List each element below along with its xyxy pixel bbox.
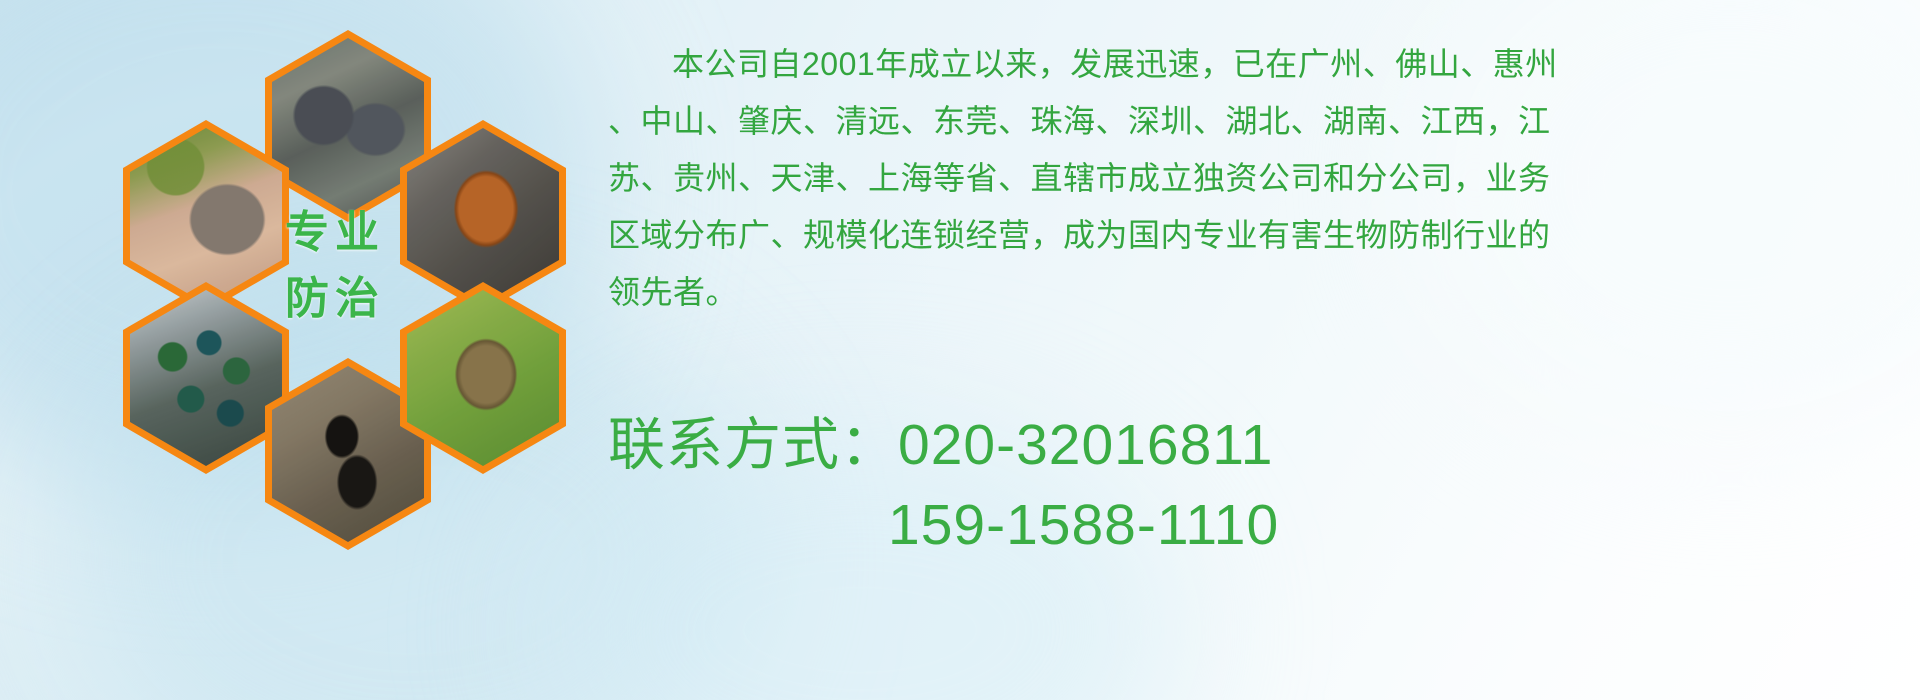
description-line-2: 、中山、肇庆、清远、东莞、珠海、深圳、湖北、湖南、江西，江	[608, 93, 1878, 150]
company-description: 本公司自2001年成立以来，发展迅速，已在广州、佛山、惠州 、中山、肇庆、清远、…	[608, 36, 1878, 321]
contact-phone-secondary[interactable]: 159-1588-1110	[608, 485, 1878, 565]
promo-banner: 专业 防治 本公司自2001年成立以来，发展迅速，已在广州、佛山、惠州 、中山、…	[0, 0, 1920, 700]
slogan-line-2: 防治	[255, 266, 415, 332]
cockroach-image	[407, 128, 559, 304]
description-line-3: 苏、贵州、天津、上海等省、直辖市成立独资公司和分公司，业务	[608, 150, 1878, 207]
cockroach-photo	[407, 128, 559, 304]
description-line-5: 领先者。	[608, 264, 1878, 321]
contact-phone-primary[interactable]: 联系方式：020-32016811	[608, 405, 1878, 485]
description-line-1: 本公司自2001年成立以来，发展迅速，已在广州、佛山、惠州	[608, 36, 1878, 93]
stink-bug-image	[407, 290, 559, 466]
stink-bug-photo	[407, 290, 559, 466]
slogan-line-1: 专业	[255, 200, 415, 266]
description-line-4: 区域分布广、规模化连锁经营，成为国内专业有害生物防制行业的	[608, 207, 1878, 264]
slogan: 专业 防治	[255, 200, 415, 332]
contact-block: 联系方式：020-32016811 159-1588-1110	[608, 405, 1878, 565]
